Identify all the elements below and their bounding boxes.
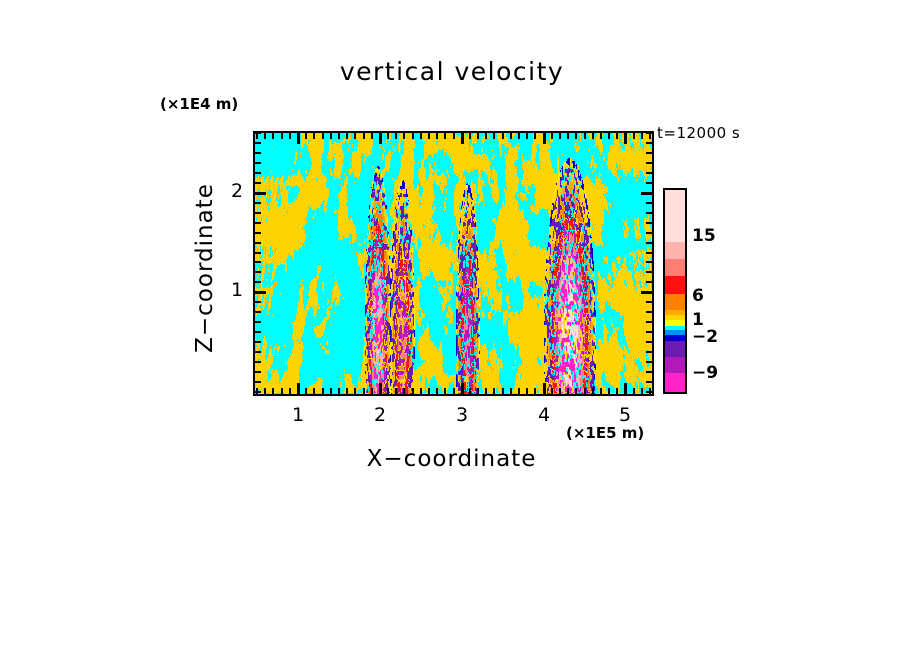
axis-tick (526, 133, 528, 139)
axis-tick (255, 252, 261, 254)
axis-tick-label: 1 (231, 279, 243, 301)
axis-tick (255, 242, 261, 244)
axis-tick (330, 133, 332, 139)
colorbar-band (665, 294, 685, 310)
axis-tick (346, 133, 348, 139)
axis-tick (559, 388, 561, 394)
axis-tick (600, 388, 602, 394)
axis-tick (338, 388, 340, 394)
axis-tick (584, 133, 586, 139)
axis-tick (646, 321, 652, 323)
axis-tick (255, 371, 261, 373)
axis-tick (608, 133, 610, 139)
axis-tick-label: 5 (619, 404, 631, 426)
axis-tick (624, 133, 627, 144)
axis-tick (567, 133, 569, 139)
axis-tick (646, 162, 652, 164)
axis-tick (313, 388, 315, 394)
axis-tick (641, 192, 652, 195)
axis-tick (575, 388, 577, 394)
axis-tick (469, 133, 471, 139)
axis-tick (436, 388, 438, 394)
axis-tick (371, 388, 373, 394)
axis-tick (281, 133, 283, 139)
axis-tick (322, 388, 324, 394)
axis-tick (264, 133, 266, 139)
axis-tick (633, 388, 635, 394)
axis-tick (646, 281, 652, 283)
axis-tick (255, 232, 261, 234)
axis-tick (646, 271, 652, 273)
axis-tick (551, 388, 553, 394)
axis-tick (641, 388, 643, 394)
axis-tick (518, 133, 520, 139)
axis-tick (255, 222, 261, 224)
axis-tick-label: 3 (456, 404, 468, 426)
colorbar-band (665, 341, 685, 357)
axis-tick (646, 212, 652, 214)
axis-tick (477, 133, 479, 139)
axis-tick (289, 388, 291, 394)
axis-tick (646, 301, 652, 303)
axis-tick (600, 133, 602, 139)
axis-tick (255, 142, 261, 144)
axis-tick (646, 261, 652, 263)
axis-tick (428, 388, 430, 394)
colorbar-band (665, 259, 685, 276)
axis-tick (502, 133, 504, 139)
axis-tick (646, 242, 652, 244)
colorbar-tick-label: −9 (692, 363, 718, 383)
axis-tick (624, 383, 627, 394)
axis-tick (633, 133, 635, 139)
axis-tick (444, 388, 446, 394)
axis-tick (646, 361, 652, 363)
axis-tick (403, 388, 405, 394)
axis-tick (534, 133, 536, 139)
axis-tick (428, 133, 430, 139)
axis-tick (420, 133, 422, 139)
colorbar-band (665, 242, 685, 259)
axis-tick (526, 388, 528, 394)
axis-tick (255, 152, 261, 154)
x-axis-title: X−coordinate (253, 446, 650, 472)
axis-tick-label: 1 (292, 404, 304, 426)
axis-tick (255, 361, 261, 363)
axis-tick (444, 133, 446, 139)
axis-tick (646, 172, 652, 174)
colorbar-tick-label: 15 (692, 226, 716, 246)
axis-tick (646, 152, 652, 154)
axis-tick (354, 388, 356, 394)
axis-tick (255, 182, 261, 184)
colorbar-band (665, 190, 685, 242)
colorbar (663, 188, 687, 394)
axis-tick (371, 133, 373, 139)
axis-tick (453, 388, 455, 394)
axis-tick (264, 388, 266, 394)
axis-tick (255, 281, 261, 283)
axis-tick (534, 388, 536, 394)
axis-tick (289, 133, 291, 139)
axis-tick (592, 133, 594, 139)
axis-tick (646, 391, 652, 393)
axis-tick (436, 133, 438, 139)
axis-tick-layer: 1234512 (0, 0, 904, 654)
axis-tick (592, 388, 594, 394)
axis-tick (395, 133, 397, 139)
axis-tick (255, 321, 261, 323)
axis-tick (608, 388, 610, 394)
axis-tick (461, 383, 464, 394)
axis-tick (567, 388, 569, 394)
axis-tick (346, 388, 348, 394)
colorbar-band (665, 276, 685, 295)
axis-tick (510, 133, 512, 139)
axis-tick (412, 133, 414, 139)
axis-tick (469, 388, 471, 394)
axis-tick (559, 133, 561, 139)
axis-tick (379, 133, 382, 144)
axis-tick (255, 172, 261, 174)
axis-tick (461, 133, 464, 144)
axis-tick (379, 383, 382, 394)
axis-tick (255, 301, 261, 303)
axis-tick (255, 381, 261, 383)
axis-tick (255, 271, 261, 273)
axis-tick (255, 162, 261, 164)
axis-tick-label: 4 (538, 404, 550, 426)
axis-tick (616, 388, 618, 394)
axis-tick (551, 133, 553, 139)
colorbar-tick-label: −2 (692, 327, 718, 347)
axis-tick (510, 388, 512, 394)
axis-tick (363, 133, 365, 139)
axis-tick (363, 388, 365, 394)
axis-tick (646, 341, 652, 343)
axis-tick (646, 222, 652, 224)
axis-tick (395, 388, 397, 394)
axis-tick (305, 388, 307, 394)
axis-tick (646, 381, 652, 383)
axis-tick (272, 133, 274, 139)
axis-tick (543, 383, 546, 394)
axis-tick (255, 351, 261, 353)
axis-tick (272, 388, 274, 394)
axis-tick (354, 133, 356, 139)
axis-tick (646, 351, 652, 353)
x-axis-unit-label: (×1E5 m) (566, 424, 644, 442)
axis-tick (330, 388, 332, 394)
axis-tick (255, 132, 261, 134)
y-axis-title: Z−coordinate (192, 138, 218, 398)
axis-tick (477, 388, 479, 394)
axis-tick (255, 291, 266, 294)
axis-tick (387, 388, 389, 394)
axis-tick (297, 383, 300, 394)
axis-tick (485, 388, 487, 394)
axis-tick (646, 331, 652, 333)
axis-tick (412, 388, 414, 394)
colorbar-band (665, 373, 685, 392)
axis-tick (646, 142, 652, 144)
axis-tick (641, 291, 652, 294)
axis-tick (322, 133, 324, 139)
axis-tick (493, 133, 495, 139)
axis-tick (255, 192, 266, 195)
axis-tick (493, 388, 495, 394)
axis-tick (646, 182, 652, 184)
axis-tick (543, 133, 546, 144)
axis-tick (255, 391, 261, 393)
axis-tick (255, 212, 261, 214)
axis-tick (255, 311, 261, 313)
axis-tick (584, 388, 586, 394)
axis-tick (255, 331, 261, 333)
axis-tick (646, 132, 652, 134)
axis-tick (646, 202, 652, 204)
axis-tick (646, 311, 652, 313)
colorbar-band (665, 357, 685, 373)
axis-tick (297, 133, 300, 144)
axis-tick (403, 133, 405, 139)
axis-tick-label: 2 (374, 404, 386, 426)
axis-tick (502, 388, 504, 394)
axis-tick (646, 232, 652, 234)
axis-tick (485, 133, 487, 139)
axis-tick (281, 388, 283, 394)
axis-tick (255, 261, 261, 263)
axis-tick (255, 202, 261, 204)
axis-tick (646, 371, 652, 373)
axis-tick (255, 341, 261, 343)
axis-tick (420, 388, 422, 394)
axis-tick (575, 133, 577, 139)
axis-tick (387, 133, 389, 139)
axis-tick (305, 133, 307, 139)
colorbar-tick-label: 6 (692, 286, 704, 306)
axis-tick (641, 133, 643, 139)
axis-tick (646, 252, 652, 254)
axis-tick (453, 133, 455, 139)
axis-tick (338, 133, 340, 139)
axis-tick (313, 133, 315, 139)
axis-tick (518, 388, 520, 394)
axis-tick (616, 133, 618, 139)
axis-tick-label: 2 (231, 180, 243, 202)
